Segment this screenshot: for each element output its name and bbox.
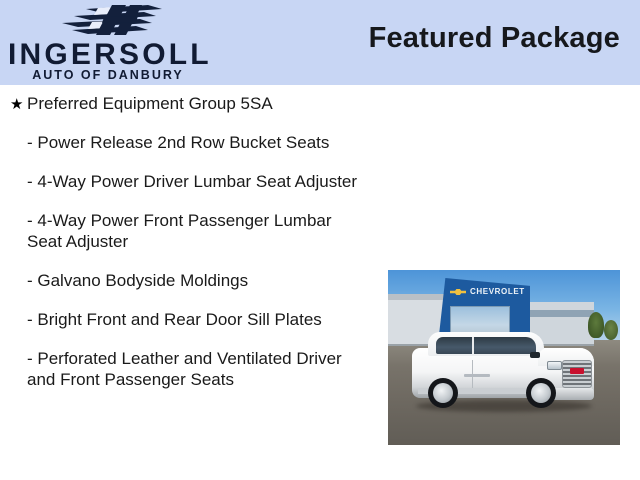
vehicle-photo: CHEVROLET (388, 270, 620, 445)
suv-vehicle (410, 326, 596, 412)
package-heading: Preferred Equipment Group 5SA (27, 94, 273, 113)
vehicle-window-pillar (472, 337, 474, 354)
vehicle-wheel-front (526, 378, 556, 408)
list-item: - Power Release 2nd Row Bucket Seats (27, 132, 362, 153)
tree-icon (604, 320, 618, 340)
page-title: Featured Package (369, 22, 620, 55)
vehicle-wheel-rear (428, 378, 458, 408)
vehicle-headlight (547, 361, 562, 370)
list-item: - Perforated Leather and Ventilated Driv… (27, 348, 362, 390)
vehicle-mirror (530, 352, 540, 358)
dealership-sign-text: CHEVROLET (470, 287, 525, 296)
star-bullet-icon: ★ (10, 94, 27, 115)
dealer-subtitle: AUTO OF DANBURY (8, 69, 208, 82)
dealer-name: INGERSOLL (8, 40, 208, 70)
list-item: - 4-Way Power Driver Lumbar Seat Adjuste… (27, 171, 362, 192)
dealership-roof-left (388, 294, 452, 300)
list-item: - Bright Front and Rear Door Sill Plates (27, 309, 377, 330)
dealer-logo: INGERSOLL AUTO OF DANBURY (0, 0, 215, 85)
page-header: INGERSOLL AUTO OF DANBURY Featured Packa… (0, 0, 640, 85)
ingersoll-wing-emblem-icon (52, 3, 172, 39)
list-item: - 4-Way Power Front Passenger Lumbar Sea… (27, 210, 362, 252)
vehicle-badge (464, 374, 490, 377)
feature-list: - Power Release 2nd Row Bucket Seats - 4… (27, 132, 377, 408)
dealership-building-band (528, 310, 594, 317)
package-heading-row: ★Preferred Equipment Group 5SA (10, 93, 370, 115)
vehicle-grille (562, 360, 592, 388)
vehicle-windows (436, 337, 536, 354)
gmc-badge-icon (570, 368, 584, 374)
list-item: - Galvano Bodyside Moldings (27, 270, 377, 291)
package-content: ★Preferred Equipment Group 5SA - Power R… (0, 85, 640, 480)
